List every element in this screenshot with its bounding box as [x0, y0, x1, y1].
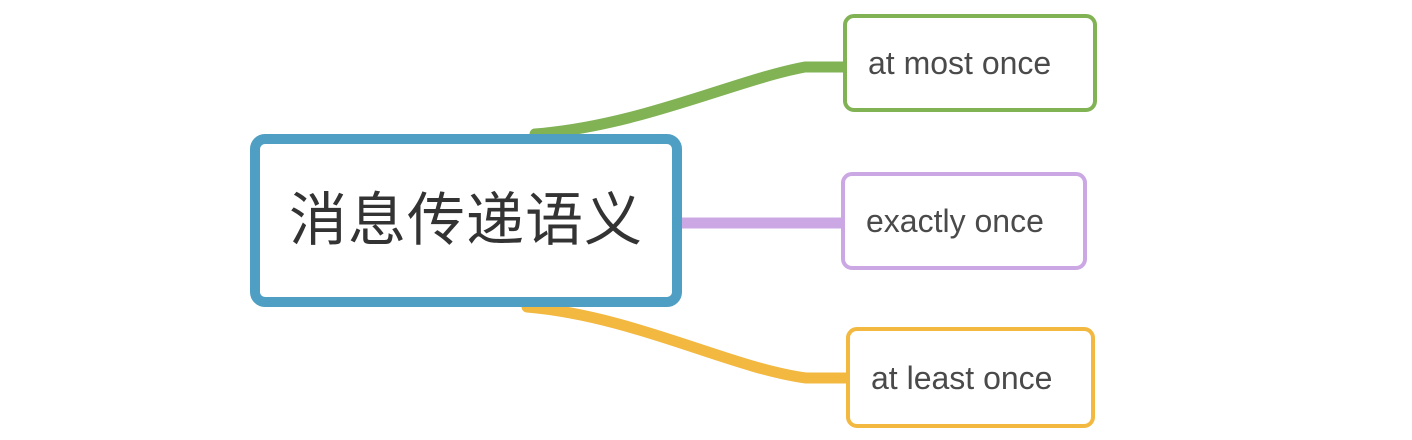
center-node-label: 消息传递语义: [289, 192, 643, 250]
branch-node-at-least-once[interactable]: at least once: [846, 327, 1095, 428]
branch-node-exactly-once[interactable]: exactly once: [841, 172, 1087, 270]
connector-at-most-once: [535, 67, 845, 134]
branch-node-label: exactly once: [845, 205, 1044, 237]
connector-layer: [0, 0, 1412, 440]
branch-node-label: at least once: [850, 362, 1052, 394]
branch-node-at-most-once[interactable]: at most once: [843, 14, 1097, 112]
connector-at-least-once: [527, 307, 848, 378]
branch-node-label: at most once: [847, 47, 1051, 79]
mindmap-canvas: 消息传递语义 at most once exactly once at leas…: [0, 0, 1412, 440]
center-node[interactable]: 消息传递语义: [250, 134, 682, 307]
